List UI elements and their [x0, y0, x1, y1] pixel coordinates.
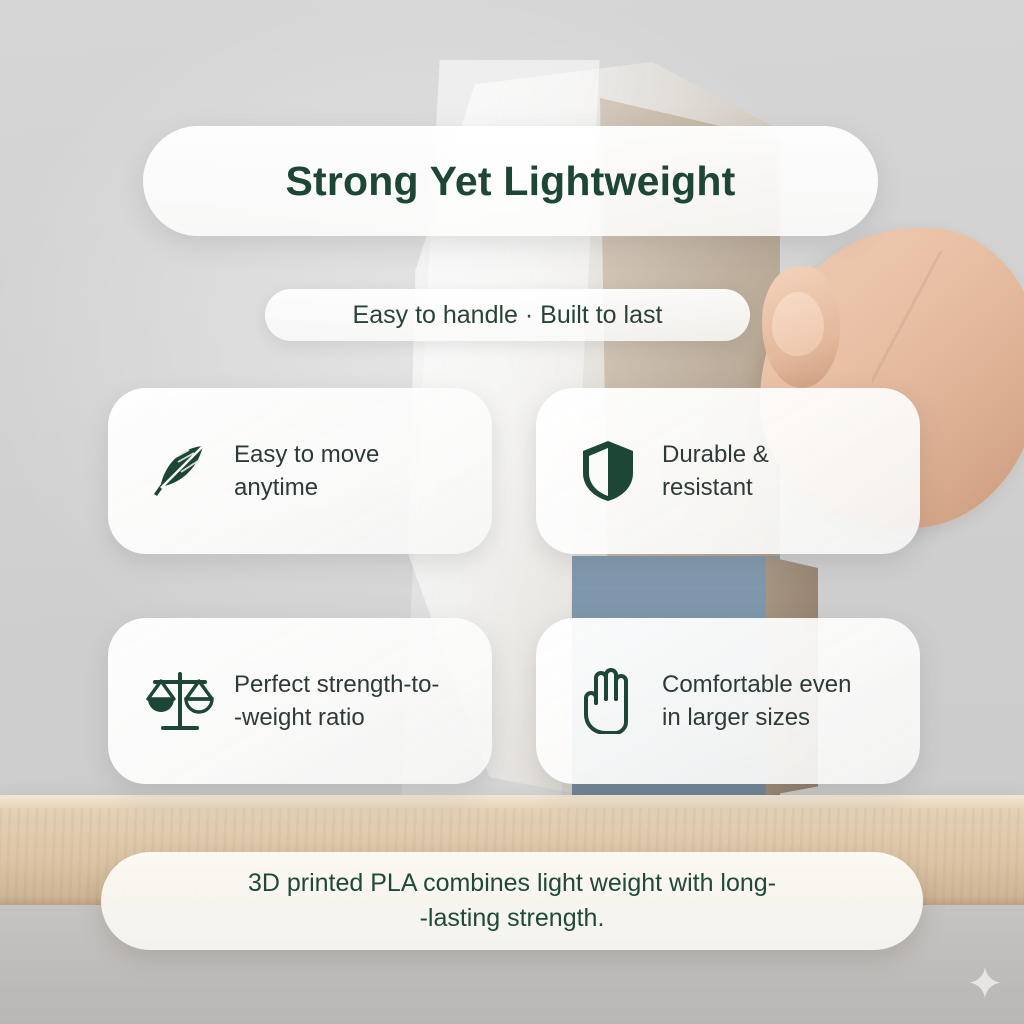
shield-icon [570, 438, 646, 504]
feature-label-line: Perfect strength-to- [234, 668, 439, 701]
footer-banner: 3D printed PLA combines light weight wit… [101, 852, 923, 950]
footer-text: 3D printed PLA combines light weight wit… [248, 866, 776, 937]
sparkle-icon [968, 966, 1002, 1000]
page-subtitle: Easy to handle · Built to last [353, 301, 663, 330]
feature-label-line: in larger sizes [662, 701, 851, 734]
feature-card-comfortable[interactable]: Comfortable even in larger sizes [536, 618, 920, 784]
infographic-overlay: Strong Yet Lightweight Easy to handle · … [0, 0, 1024, 1024]
open-hand-icon [570, 668, 646, 734]
footer-line: -lasting strength. [248, 901, 776, 937]
feature-label-line: Comfortable even [662, 668, 851, 701]
feature-card-strength-to-weight[interactable]: Perfect strength-to- -weight ratio [108, 618, 492, 784]
feature-card-label: Easy to move anytime [234, 438, 379, 504]
feature-card-label: Durable & resistant [662, 438, 769, 504]
balance-scales-icon [142, 668, 218, 734]
feature-card-label: Comfortable even in larger sizes [662, 668, 851, 734]
footer-line: 3D printed PLA combines light weight wit… [248, 866, 776, 902]
feature-card-durable[interactable]: Durable & resistant [536, 388, 920, 554]
feature-card-label: Perfect strength-to- -weight ratio [234, 668, 439, 734]
page-title: Strong Yet Lightweight [285, 158, 735, 205]
title-banner: Strong Yet Lightweight [143, 126, 878, 236]
feature-label-line: resistant [662, 471, 769, 504]
feature-label-line: Durable & [662, 438, 769, 471]
feature-card-grid: Easy to move anytime Durable & resistant [108, 388, 920, 784]
feather-icon [142, 439, 218, 503]
feature-label-line: Easy to move [234, 438, 379, 471]
subtitle-banner: Easy to handle · Built to last [265, 289, 750, 341]
feature-label-line: -weight ratio [234, 701, 439, 734]
feature-label-line: anytime [234, 471, 379, 504]
feature-card-easy-to-move[interactable]: Easy to move anytime [108, 388, 492, 554]
